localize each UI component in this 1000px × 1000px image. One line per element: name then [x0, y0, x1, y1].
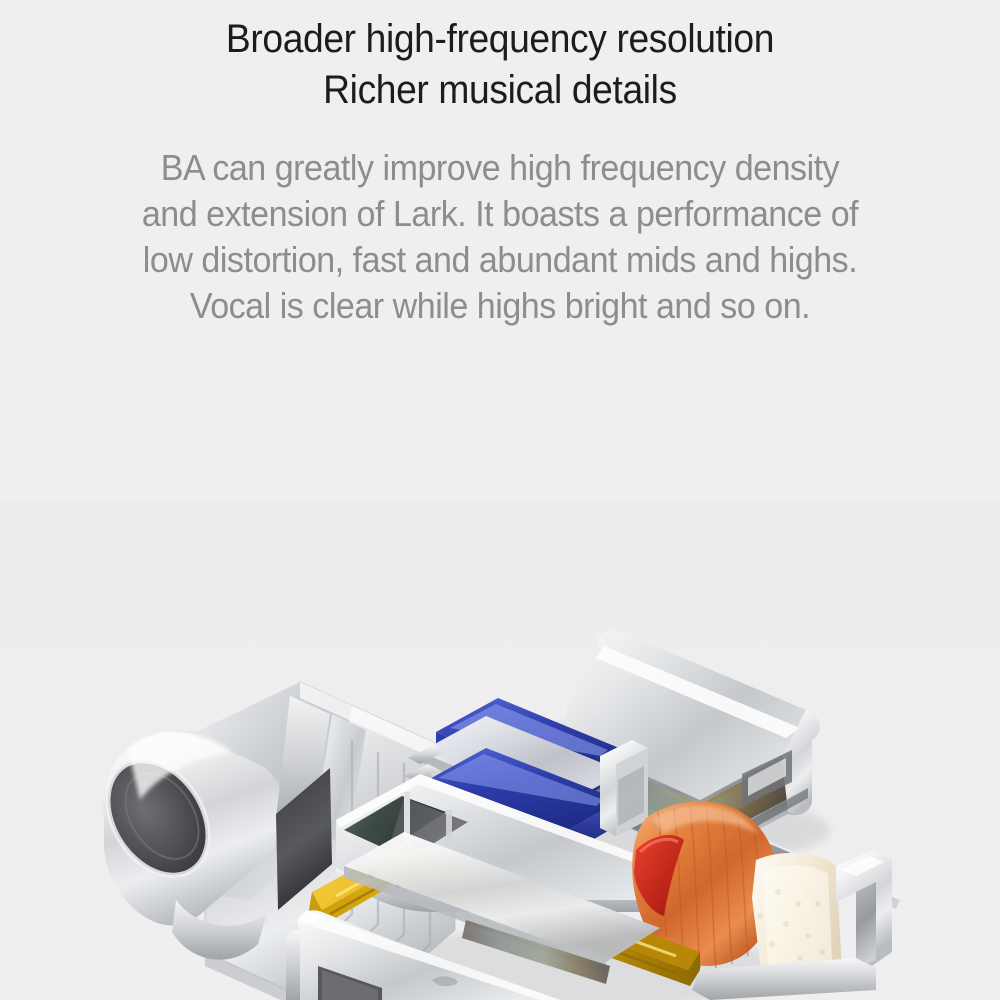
- exploded-driver-illustration: [0, 500, 1000, 1000]
- description-paragraph: BA can greatly improve high frequency de…: [28, 145, 973, 329]
- marketing-copy-block: Broader high-frequency resolution Richer…: [0, 0, 1000, 329]
- headline-line-2: Richer musical details: [35, 65, 965, 116]
- description-line-1: BA can greatly improve high frequency de…: [28, 145, 973, 191]
- description-line-2: and extension of Lark. It boasts a perfo…: [28, 191, 973, 237]
- headline-line-1: Broader high-frequency resolution: [35, 14, 965, 65]
- description-line-4: Vocal is clear while highs bright and so…: [28, 283, 973, 329]
- description-line-3: low distortion, fast and abundant mids a…: [28, 237, 973, 283]
- page-title: Broader high-frequency resolution Richer…: [35, 14, 965, 116]
- light-wash: [0, 500, 1000, 1000]
- product-image: [0, 500, 1000, 1000]
